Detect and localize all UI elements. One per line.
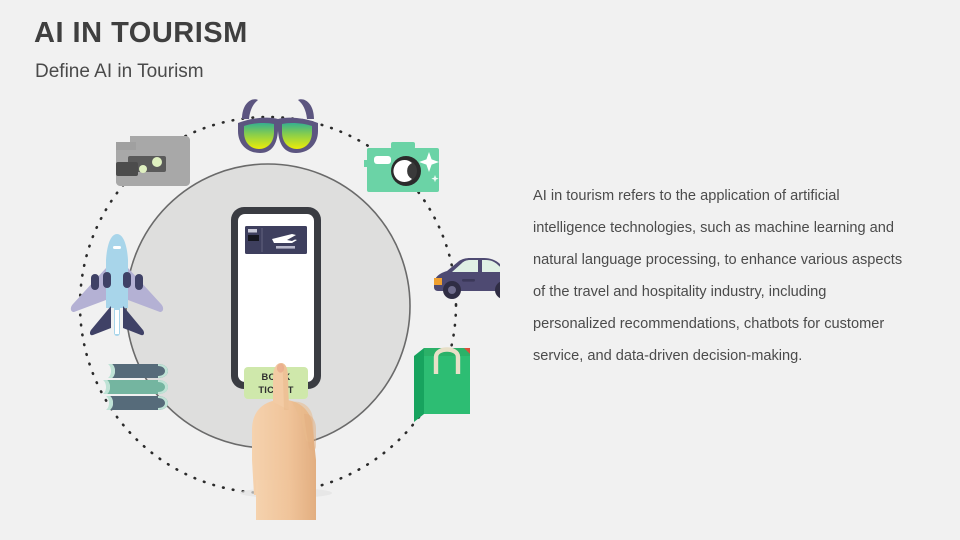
flight-ticket-card	[245, 226, 307, 254]
books-icon	[103, 364, 168, 410]
wallet-icon	[116, 136, 190, 186]
camera-icon	[364, 142, 439, 192]
car-icon	[434, 258, 500, 299]
shopping-bag-icon	[414, 348, 470, 422]
description-paragraph: AI in tourism refers to the application …	[533, 180, 905, 372]
page-title: AI IN TOURISM	[34, 17, 248, 50]
illustration-stage: BOOK TICKET	[40, 80, 500, 540]
sunglasses-icon	[238, 99, 318, 153]
